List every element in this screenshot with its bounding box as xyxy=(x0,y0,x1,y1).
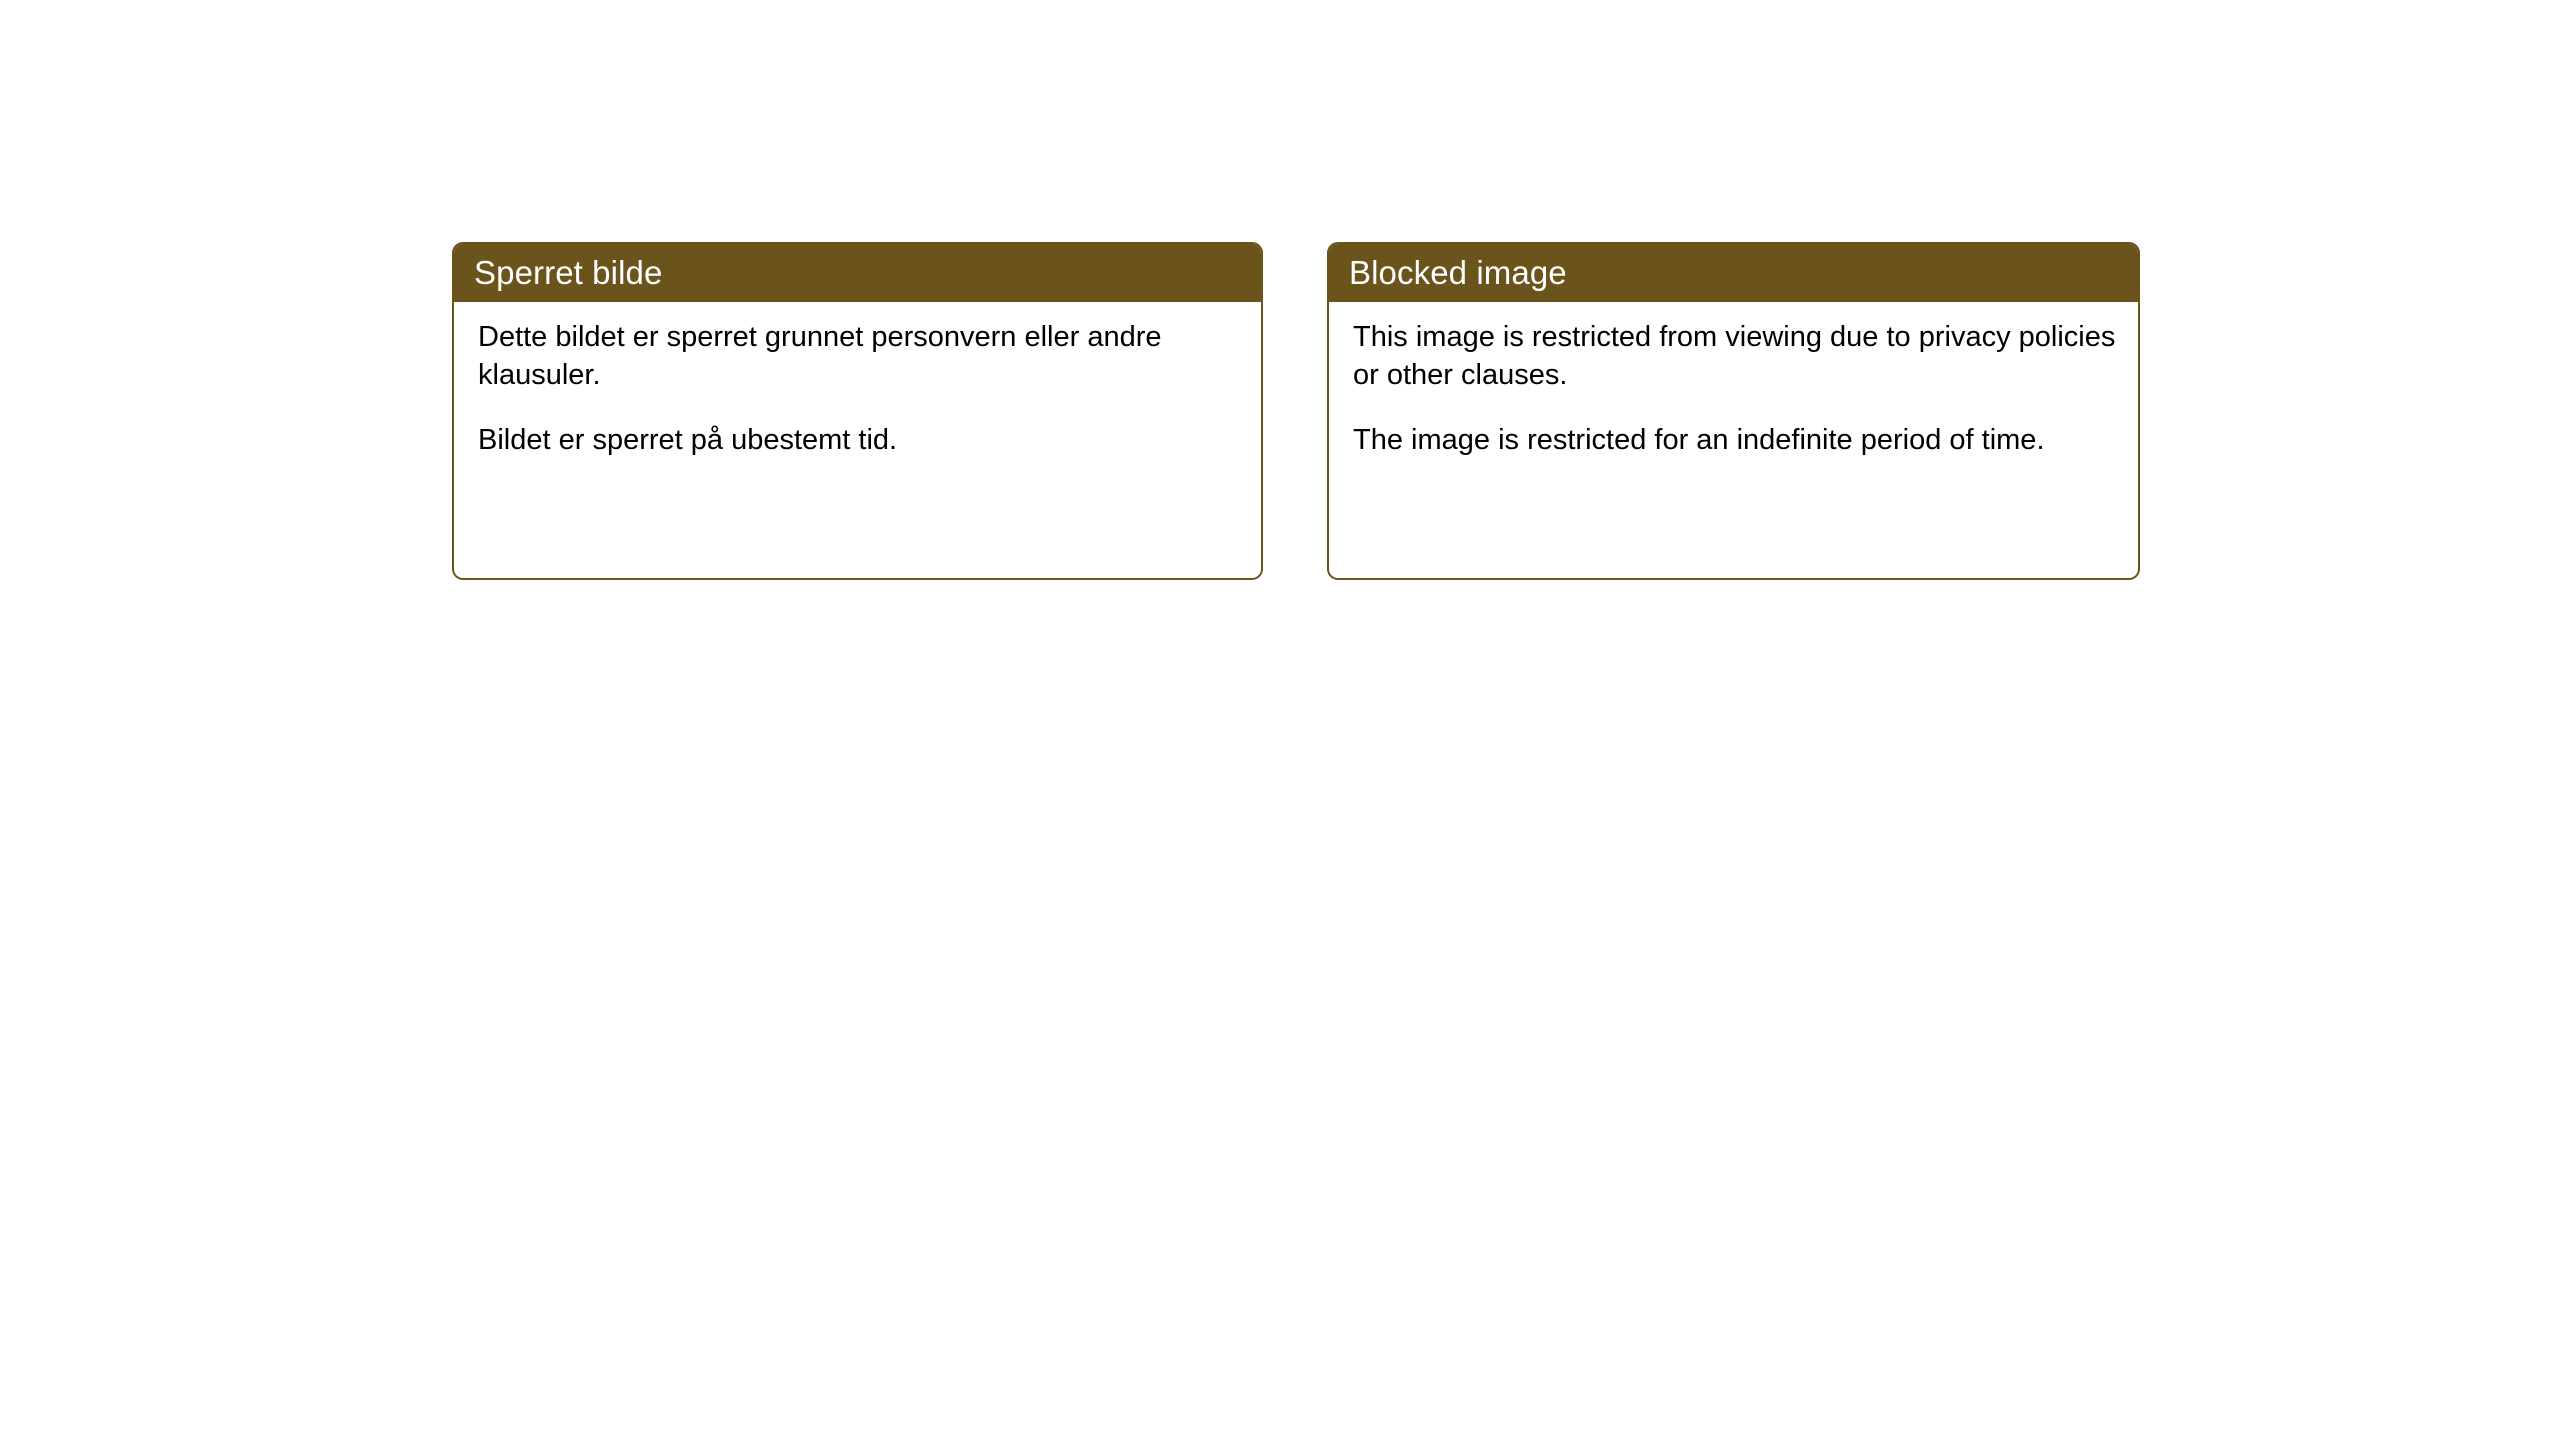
card-body-english: This image is restricted from viewing du… xyxy=(1329,302,2138,578)
card-paragraph-reason-english: This image is restricted from viewing du… xyxy=(1353,318,2118,395)
blocked-image-notices: Sperret bilde Dette bildet er sperret gr… xyxy=(452,242,2140,580)
card-paragraph-duration-english: The image is restricted for an indefinit… xyxy=(1353,421,2118,459)
card-title-norwegian: Sperret bilde xyxy=(474,256,662,289)
card-header-norwegian: Sperret bilde xyxy=(452,242,1263,302)
blocked-image-card-norwegian: Sperret bilde Dette bildet er sperret gr… xyxy=(452,242,1263,580)
card-paragraph-reason-norwegian: Dette bildet er sperret grunnet personve… xyxy=(478,318,1241,395)
card-body-norwegian: Dette bildet er sperret grunnet personve… xyxy=(454,302,1261,578)
card-header-english: Blocked image xyxy=(1327,242,2140,302)
blocked-image-card-english: Blocked image This image is restricted f… xyxy=(1327,242,2140,580)
card-title-english: Blocked image xyxy=(1349,256,1567,289)
card-paragraph-duration-norwegian: Bildet er sperret på ubestemt tid. xyxy=(478,421,1241,459)
